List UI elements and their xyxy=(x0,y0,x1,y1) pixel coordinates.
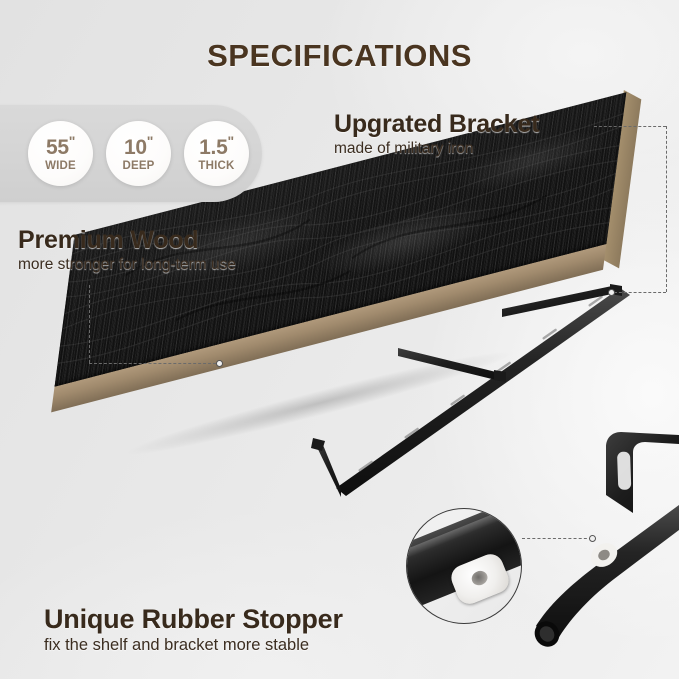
rubber-stopper-zoom-inset xyxy=(406,508,522,624)
spec-chip-wide: 55" WIDE xyxy=(28,121,93,186)
spec-chip-wide-value: 55" xyxy=(46,134,75,158)
callout-stopper: Unique Rubber Stopper fix the shelf and … xyxy=(44,604,343,655)
spec-chip-thick-label: THICK xyxy=(198,161,234,173)
callout-bracket: Upgrated Bracket made of military iron xyxy=(334,110,539,158)
infographic-canvas: SPECIFICATIONS xyxy=(0,0,679,679)
spec-chip-thick-value: 1.5" xyxy=(199,134,234,158)
callout-stopper-heading: Unique Rubber Stopper xyxy=(44,604,343,635)
callout-wood-heading: Premium Wood xyxy=(18,226,236,255)
shelf-illustration xyxy=(0,150,679,570)
leader-line-bracket-top xyxy=(594,126,666,127)
leader-dot-bracket xyxy=(608,289,615,296)
callout-bracket-heading: Upgrated Bracket xyxy=(334,110,539,139)
leader-line-wood-vertical xyxy=(89,285,90,363)
page-title: SPECIFICATIONS xyxy=(0,38,679,74)
leader-line-stopper xyxy=(522,538,592,539)
leader-dot-stopper xyxy=(589,535,596,542)
leader-dot-wood xyxy=(216,360,223,367)
spec-chip-deep-label: DEEP xyxy=(122,161,154,173)
spec-chip-deep-value: 10" xyxy=(124,134,153,158)
callout-wood: Premium Wood more stronger for long-term… xyxy=(18,226,236,274)
spec-chip-thick: 1.5" THICK xyxy=(184,121,249,186)
leader-line-bracket-vertical xyxy=(666,126,667,292)
callout-bracket-subtext: made of military iron xyxy=(334,140,539,158)
callout-stopper-subtext: fix the shelf and bracket more stable xyxy=(44,636,343,655)
spec-chip-list: 55" WIDE 10" DEEP 1.5" THICK xyxy=(14,105,276,202)
spec-chip-deep: 10" DEEP xyxy=(106,121,171,186)
spec-chip-wide-label: WIDE xyxy=(45,161,76,173)
callout-wood-subtext: more stronger for long-term use xyxy=(18,256,236,274)
leader-line-wood-horizontal xyxy=(89,363,216,364)
leader-line-bracket-bottom xyxy=(614,292,666,293)
